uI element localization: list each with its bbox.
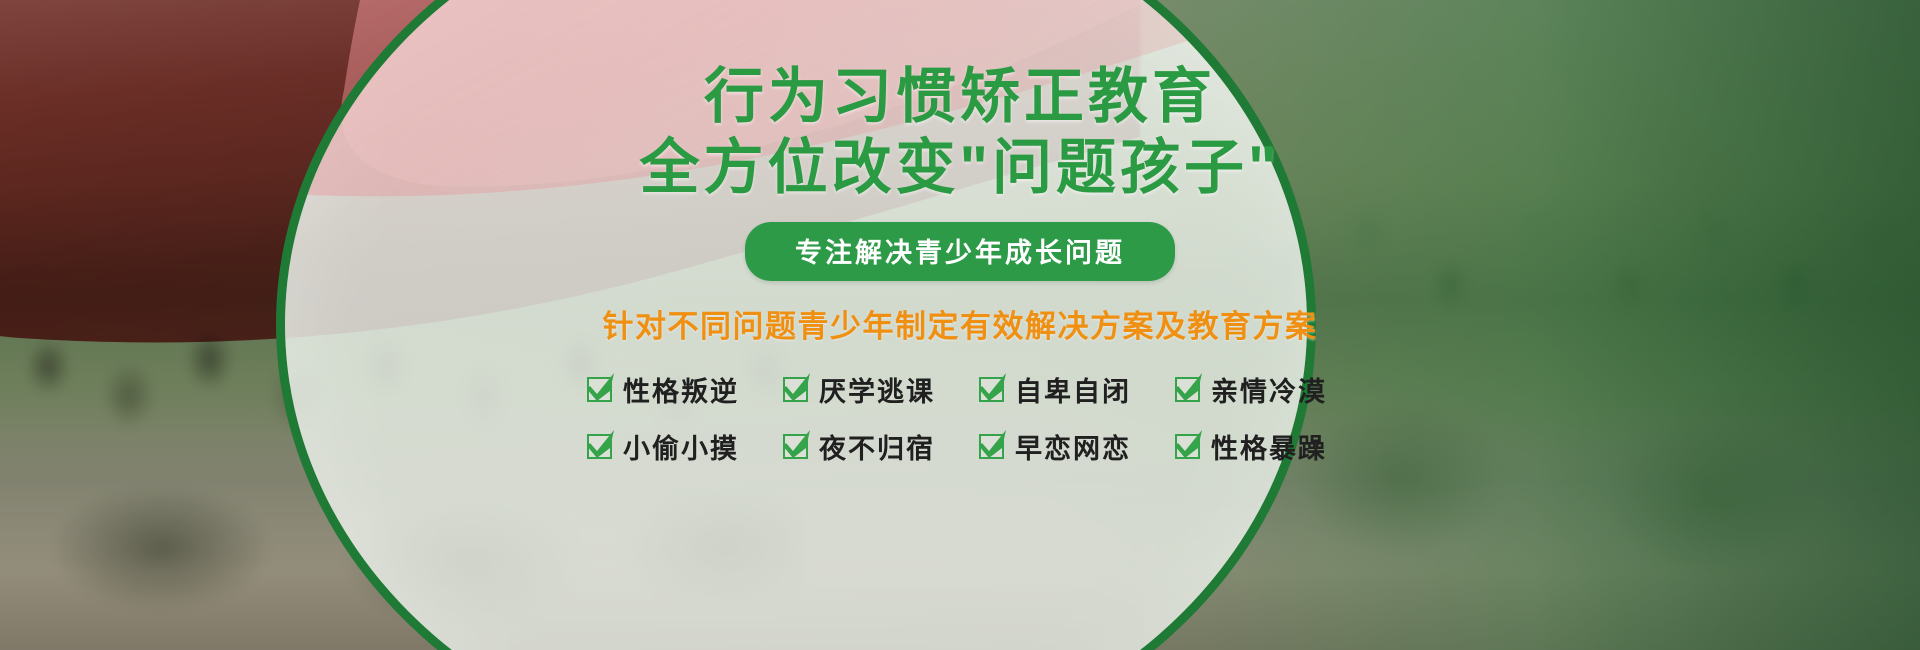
tag-item: 小偷小摸: [587, 427, 745, 466]
promo-banner: 行为习惯矫正教育 全方位改变"问题孩子" 专注解决青少年成长问题 针对不同问题青…: [0, 0, 1920, 650]
tag-label: 性格暴躁: [1211, 427, 1327, 466]
tag-item: 夜不归宿: [783, 427, 941, 466]
subtitle: 针对不同问题青少年制定有效解决方案及教育方案: [603, 301, 1318, 346]
headline-line-1: 行为习惯矫正教育: [640, 62, 1281, 133]
checkbox-checked-icon: [1175, 434, 1200, 459]
tag-row: 小偷小摸 夜不归宿 早恋网恋: [587, 427, 1333, 466]
tag-label: 早恋网恋: [1015, 427, 1131, 466]
tag-label: 厌学逃课: [819, 370, 935, 409]
tag-item: 厌学逃课: [783, 370, 941, 409]
checkbox-checked-icon: [783, 377, 808, 402]
tag-label: 性格叛逆: [623, 370, 739, 409]
checkbox-checked-icon: [587, 377, 612, 402]
tag-item: 性格叛逆: [587, 370, 745, 409]
tag-item: 自卑自闭: [979, 370, 1137, 409]
banner-content: 行为习惯矫正教育 全方位改变"问题孩子" 专注解决青少年成长问题 针对不同问题青…: [0, 0, 1920, 650]
tag-label: 亲情冷漠: [1211, 370, 1327, 409]
checkbox-checked-icon: [783, 434, 808, 459]
tag-item: 亲情冷漠: [1175, 370, 1333, 409]
tag-label: 夜不归宿: [819, 427, 935, 466]
tag-item: 性格暴躁: [1175, 427, 1333, 466]
headline: 行为习惯矫正教育 全方位改变"问题孩子": [640, 62, 1281, 204]
tag-label: 小偷小摸: [623, 427, 739, 466]
tag-item: 早恋网恋: [979, 427, 1137, 466]
headline-line-2: 全方位改变"问题孩子": [640, 133, 1281, 204]
checkbox-checked-icon: [979, 434, 1004, 459]
checkbox-checked-icon: [979, 377, 1004, 402]
checkbox-checked-icon: [1175, 377, 1200, 402]
tag-list: 性格叛逆 厌学逃课 自卑自闭: [587, 370, 1333, 466]
tag-row: 性格叛逆 厌学逃课 自卑自闭: [587, 370, 1333, 409]
tag-label: 自卑自闭: [1015, 370, 1131, 409]
checkbox-checked-icon: [587, 434, 612, 459]
pill-badge: 专注解决青少年成长问题: [745, 222, 1175, 281]
